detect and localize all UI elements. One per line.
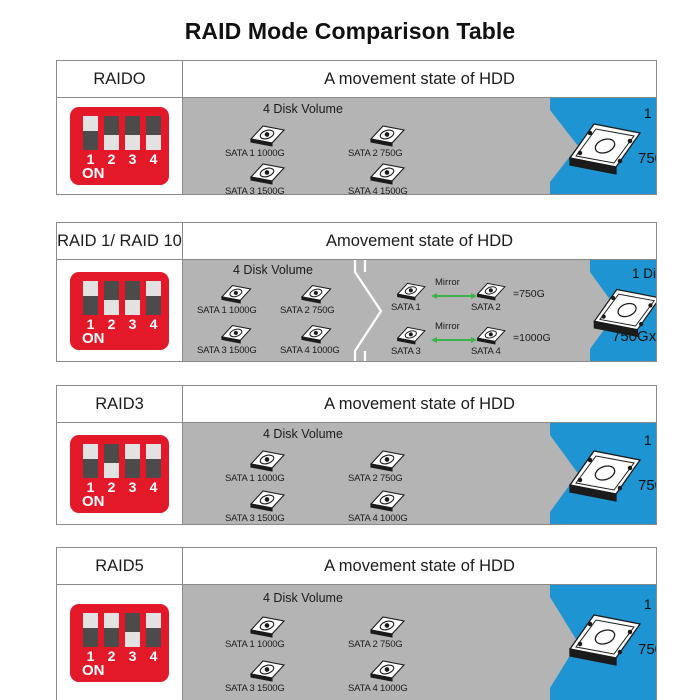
row-header: RAID3 A movement state of HDD bbox=[57, 386, 656, 423]
result-panel: 1 Disk Volume 750Gx3=2250G bbox=[534, 585, 656, 700]
dip-nub bbox=[104, 613, 119, 628]
result-panel: 1 Disk Volume 750Gx3=2250G bbox=[534, 423, 656, 524]
dip-nub bbox=[125, 300, 140, 315]
disk-label: SATA 1 1000G bbox=[197, 305, 257, 316]
dip-nub bbox=[104, 300, 119, 315]
dip-nub bbox=[83, 116, 98, 131]
disk-icon bbox=[363, 120, 409, 148]
disk-label: SATA 3 1500G bbox=[197, 345, 257, 356]
dip-switch[interactable]: 1 2 3 4 ON bbox=[70, 107, 169, 185]
dip-number-2: 2 bbox=[104, 648, 119, 664]
dip-switch-3[interactable] bbox=[125, 444, 140, 478]
dip-on-label: ON bbox=[82, 330, 105, 347]
raid-mode-label: RAID 1/ RAID 10 bbox=[57, 223, 183, 259]
dip-number-3: 3 bbox=[125, 479, 140, 495]
dip-switch-cell: 1 2 3 4 ON bbox=[57, 260, 183, 361]
disk-icon bbox=[295, 320, 341, 348]
disk-label: SATA 4 1000G bbox=[348, 683, 408, 694]
row-body: 1 2 3 4 ON 4 Disk Volume SATA 1 1000G bbox=[57, 423, 656, 524]
dip-switch-2[interactable] bbox=[104, 613, 119, 647]
four-disk-volume-label: 4 Disk Volume bbox=[233, 263, 313, 277]
dip-nub bbox=[83, 613, 98, 628]
row-header: RAIDO A movement state of HDD bbox=[57, 61, 656, 98]
state-header-label: A movement state of HDD bbox=[183, 386, 656, 422]
merged-disk-icon bbox=[564, 443, 648, 510]
dip-switch-4[interactable] bbox=[146, 613, 161, 647]
state-header-label: Amovement state of HDD bbox=[183, 223, 656, 259]
row-body: 1 2 3 4 ON 4 Disk Volume SATA 1 1000G bbox=[57, 98, 656, 194]
dip-switch-1[interactable] bbox=[83, 613, 98, 647]
dip-switch-4[interactable] bbox=[146, 116, 161, 150]
disk-label: SATA 1 1000G bbox=[225, 473, 285, 484]
mirror-label: Mirror bbox=[435, 321, 460, 332]
merged-disk-icon bbox=[588, 282, 657, 345]
dip-switch-3[interactable] bbox=[125, 281, 140, 315]
state-header-label: A movement state of HDD bbox=[183, 548, 656, 584]
merged-disk-icon bbox=[564, 116, 648, 183]
disk-label: SATA 3 bbox=[391, 346, 421, 357]
dip-switch-1[interactable] bbox=[83, 444, 98, 478]
dip-switch-cell: 1 2 3 4 ON bbox=[57, 98, 183, 194]
dip-switch-cell: 1 2 3 4 ON bbox=[57, 585, 183, 700]
raid-comparison-page: RAID Mode Comparison Table RAIDO A movem… bbox=[0, 0, 700, 700]
dip-number-4: 4 bbox=[146, 151, 161, 167]
dip-nub bbox=[125, 135, 140, 150]
dip-switch[interactable]: 1 2 3 4 ON bbox=[70, 604, 169, 682]
disk-icon bbox=[215, 320, 261, 348]
diagram-area: 4 Disk Volume SATA 1 1000G SATA 2 750G bbox=[183, 98, 656, 194]
disk-label: SATA 4 1500G bbox=[348, 186, 408, 195]
disk-icon bbox=[243, 120, 289, 148]
chevron-divider bbox=[351, 260, 387, 362]
state-header-label: A movement state of HDD bbox=[183, 61, 656, 97]
dip-number-2: 2 bbox=[104, 151, 119, 167]
disk-icon bbox=[243, 445, 289, 473]
dip-number-4: 4 bbox=[146, 479, 161, 495]
dip-switch-1[interactable] bbox=[83, 281, 98, 315]
dip-nub bbox=[83, 281, 98, 296]
dip-switch-4[interactable] bbox=[146, 281, 161, 315]
disk-icon bbox=[243, 611, 289, 639]
disk-icon bbox=[363, 485, 409, 513]
disk-label: SATA 4 1000G bbox=[348, 513, 408, 524]
raid-mode-label: RAID5 bbox=[57, 548, 183, 584]
dip-switch-2[interactable] bbox=[104, 116, 119, 150]
diagram-area: 4 Disk Volume SATA 1 1000G SATA 2 750G bbox=[183, 423, 656, 524]
merged-disk-icon bbox=[564, 607, 648, 674]
raid-mode-label: RAIDO bbox=[57, 61, 183, 97]
disk-icon bbox=[243, 158, 289, 186]
table-row: RAID 1/ RAID 10 Amovement state of HDD 1… bbox=[56, 222, 657, 362]
raid-mode-label: RAID3 bbox=[57, 386, 183, 422]
four-disk-volume-label: 4 Disk Volume bbox=[263, 591, 343, 605]
page-title: RAID Mode Comparison Table bbox=[0, 18, 700, 45]
dip-on-label: ON bbox=[82, 493, 105, 510]
disk-label: SATA 2 bbox=[471, 302, 501, 313]
dip-number-4: 4 bbox=[146, 648, 161, 664]
disk-label: SATA 4 1000G bbox=[280, 345, 340, 356]
row-body: 1 2 3 4 ON 4 Disk Volume SATA 1 1000G bbox=[57, 585, 656, 700]
disk-label: SATA 2 750G bbox=[280, 305, 334, 316]
table-row: RAID3 A movement state of HDD 1 2 3 4 ON bbox=[56, 385, 657, 525]
result-panel: 1 Disk Volume 750Gx4=3000G bbox=[534, 98, 656, 194]
dip-nub bbox=[146, 613, 161, 628]
dip-nub bbox=[104, 135, 119, 150]
table-row: RAID5 A movement state of HDD 1 2 3 4 ON bbox=[56, 547, 657, 700]
dip-number-3: 3 bbox=[125, 648, 140, 664]
disk-icon bbox=[215, 280, 261, 308]
pair-capacity-label: =750G bbox=[513, 288, 545, 300]
disk-label: SATA 1 1000G bbox=[225, 639, 285, 650]
disk-label: SATA 3 1500G bbox=[225, 186, 285, 195]
disk-icon bbox=[243, 485, 289, 513]
disk-label: SATA 1 bbox=[391, 302, 421, 313]
dip-switch-1[interactable] bbox=[83, 116, 98, 150]
dip-on-label: ON bbox=[82, 662, 105, 679]
disk-label: SATA 3 1500G bbox=[225, 683, 285, 694]
dip-number-3: 3 bbox=[125, 151, 140, 167]
pair-capacity-label: =1000G bbox=[513, 332, 551, 344]
dip-number-2: 2 bbox=[104, 479, 119, 495]
disk-label: SATA 2 750G bbox=[348, 473, 402, 484]
dip-switch[interactable]: 1 2 3 4 ON bbox=[70, 435, 169, 513]
dip-switch[interactable]: 1 2 3 4 ON bbox=[70, 272, 169, 350]
disk-icon bbox=[363, 445, 409, 473]
row-header: RAID 1/ RAID 10 Amovement state of HDD bbox=[57, 223, 656, 260]
dip-switch-3[interactable] bbox=[125, 116, 140, 150]
four-disk-volume-label: 4 Disk Volume bbox=[263, 102, 343, 116]
disk-icon bbox=[363, 158, 409, 186]
row-header: RAID5 A movement state of HDD bbox=[57, 548, 656, 585]
table-row: RAIDO A movement state of HDD 1 2 3 4 ON bbox=[56, 60, 657, 195]
dip-number-4: 4 bbox=[146, 316, 161, 332]
mirror-label: Mirror bbox=[435, 277, 460, 288]
one-disk-volume-label: 1 Disk Volume bbox=[632, 266, 657, 281]
dip-nub bbox=[125, 444, 140, 459]
diagram-area: 4 Disk Volume SATA 1 1000G SATA 2 750G bbox=[183, 585, 656, 700]
disk-icon bbox=[295, 280, 341, 308]
dip-number-2: 2 bbox=[104, 316, 119, 332]
disk-label: SATA 2 750G bbox=[348, 639, 402, 650]
dip-nub bbox=[104, 463, 119, 478]
row-body: 1 2 3 4 ON 4 Disk Volume SATA 1 1000G bbox=[57, 260, 656, 361]
result-panel: 1 Disk Volume 750Gx2=1500G bbox=[574, 260, 656, 361]
disk-icon bbox=[363, 611, 409, 639]
dip-number-3: 3 bbox=[125, 316, 140, 332]
dip-nub bbox=[146, 135, 161, 150]
dip-nub bbox=[146, 281, 161, 296]
disk-label: SATA 3 1500G bbox=[225, 513, 285, 524]
disk-icon bbox=[243, 655, 289, 683]
dip-on-label: ON bbox=[82, 165, 105, 182]
dip-switch-3[interactable] bbox=[125, 613, 140, 647]
dip-switch-2[interactable] bbox=[104, 281, 119, 315]
dip-nub bbox=[125, 632, 140, 647]
disk-icon bbox=[363, 655, 409, 683]
dip-nub bbox=[146, 444, 161, 459]
dip-switch-2[interactable] bbox=[104, 444, 119, 478]
dip-nub bbox=[83, 444, 98, 459]
dip-switch-4[interactable] bbox=[146, 444, 161, 478]
disk-label: SATA 4 bbox=[471, 346, 501, 357]
dip-switch-cell: 1 2 3 4 ON bbox=[57, 423, 183, 524]
four-disk-volume-label: 4 Disk Volume bbox=[263, 427, 343, 441]
diagram-area: 4 Disk Volume SATA 1 1000G SATA 2 750G bbox=[183, 260, 656, 361]
